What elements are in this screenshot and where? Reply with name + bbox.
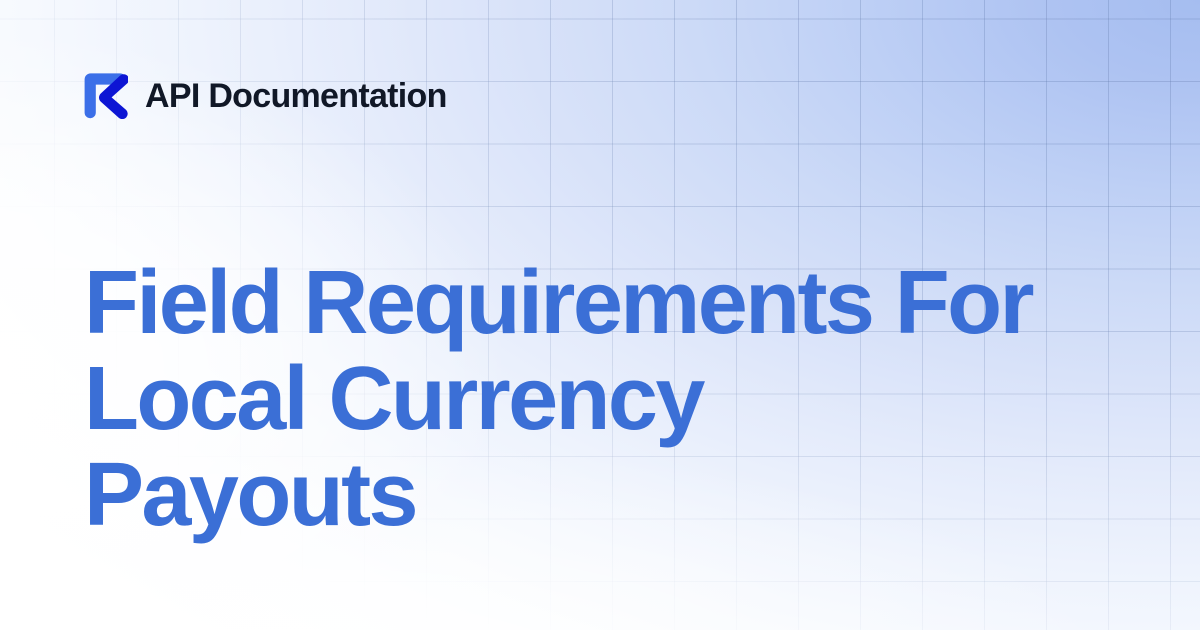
headline-line-3: Payouts [84, 447, 1134, 543]
rapyd-logo-icon [84, 73, 128, 119]
headline-line-2: Local Currency [84, 351, 1134, 447]
social-card: API Documentation Field Requirements For… [0, 0, 1200, 630]
brand-lockup: API Documentation [84, 70, 1120, 122]
page-title: Field Requirements For Local Currency Pa… [84, 255, 1134, 543]
headline-line-1: Field Requirements For [84, 255, 1134, 351]
brand-name: API Documentation [145, 79, 447, 113]
card-content: API Documentation Field Requirements For… [0, 0, 1200, 630]
